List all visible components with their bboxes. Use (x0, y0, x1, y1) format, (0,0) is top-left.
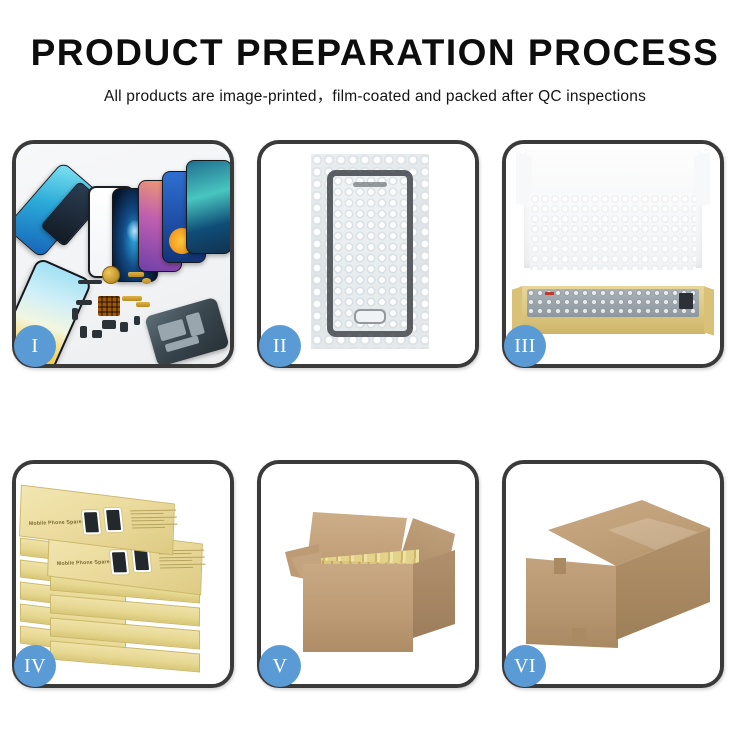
step-badge-4: IV (14, 645, 56, 687)
wrapped-item-icon (527, 289, 699, 317)
inner-box-icon (520, 286, 706, 334)
carton-side-face (413, 550, 455, 638)
part-icon (92, 330, 102, 338)
part-icon (78, 280, 102, 284)
box-thumbnail-icon (110, 550, 129, 574)
part-icon (80, 326, 87, 338)
step-panel-1: I (12, 140, 234, 368)
process-steps-grid: I II (12, 140, 738, 688)
flex-cable-icon (136, 302, 150, 307)
wrapped-screen-icon (327, 170, 413, 337)
part-icon (102, 320, 116, 329)
step-badge-6: VI (504, 645, 546, 687)
speaker-part-icon (102, 266, 120, 284)
box-stack-group: Mobile Phone Spare Parts Mobile Phone Sp… (20, 482, 226, 674)
part-icon (134, 316, 140, 325)
box-thumbnail-icon (82, 510, 101, 534)
flex-cable-icon (122, 296, 142, 301)
step-panel-6: VI (502, 460, 724, 688)
part-icon (142, 278, 151, 284)
page-subtitle: All products are image-printed，film-coat… (0, 84, 750, 106)
box-thumbnail-icon (104, 508, 123, 532)
part-icon (76, 300, 92, 305)
step-panel-4: Mobile Phone Spare Parts Mobile Phone Sp… (12, 460, 234, 688)
step-panel-3: III (502, 140, 724, 368)
part-icon (120, 322, 128, 332)
product-process-infographic: PRODUCT PREPARATION PROCESS All products… (0, 0, 750, 750)
carton-seam (554, 558, 566, 574)
bubble-wrap-icon (311, 154, 429, 349)
foam-padding-icon (530, 194, 696, 270)
carton-seam (572, 628, 586, 642)
connector-grid-icon (98, 296, 120, 316)
open-carton-icon (287, 506, 453, 656)
step-badge-3: III (504, 325, 546, 367)
header: PRODUCT PREPARATION PROCESS All products… (0, 0, 750, 106)
step-badge-2: II (259, 325, 301, 367)
step-panel-2: II (257, 140, 479, 368)
box-spec-lines (130, 510, 178, 531)
part-icon (72, 308, 78, 320)
step-badge-5: V (259, 645, 301, 687)
sealed-carton-icon (524, 500, 710, 660)
carton-front-face (303, 564, 413, 652)
step-badge-1: I (14, 325, 56, 367)
page-title: PRODUCT PREPARATION PROCESS (0, 34, 750, 71)
part-icon (128, 272, 144, 277)
step-panel-5: V (257, 460, 479, 688)
